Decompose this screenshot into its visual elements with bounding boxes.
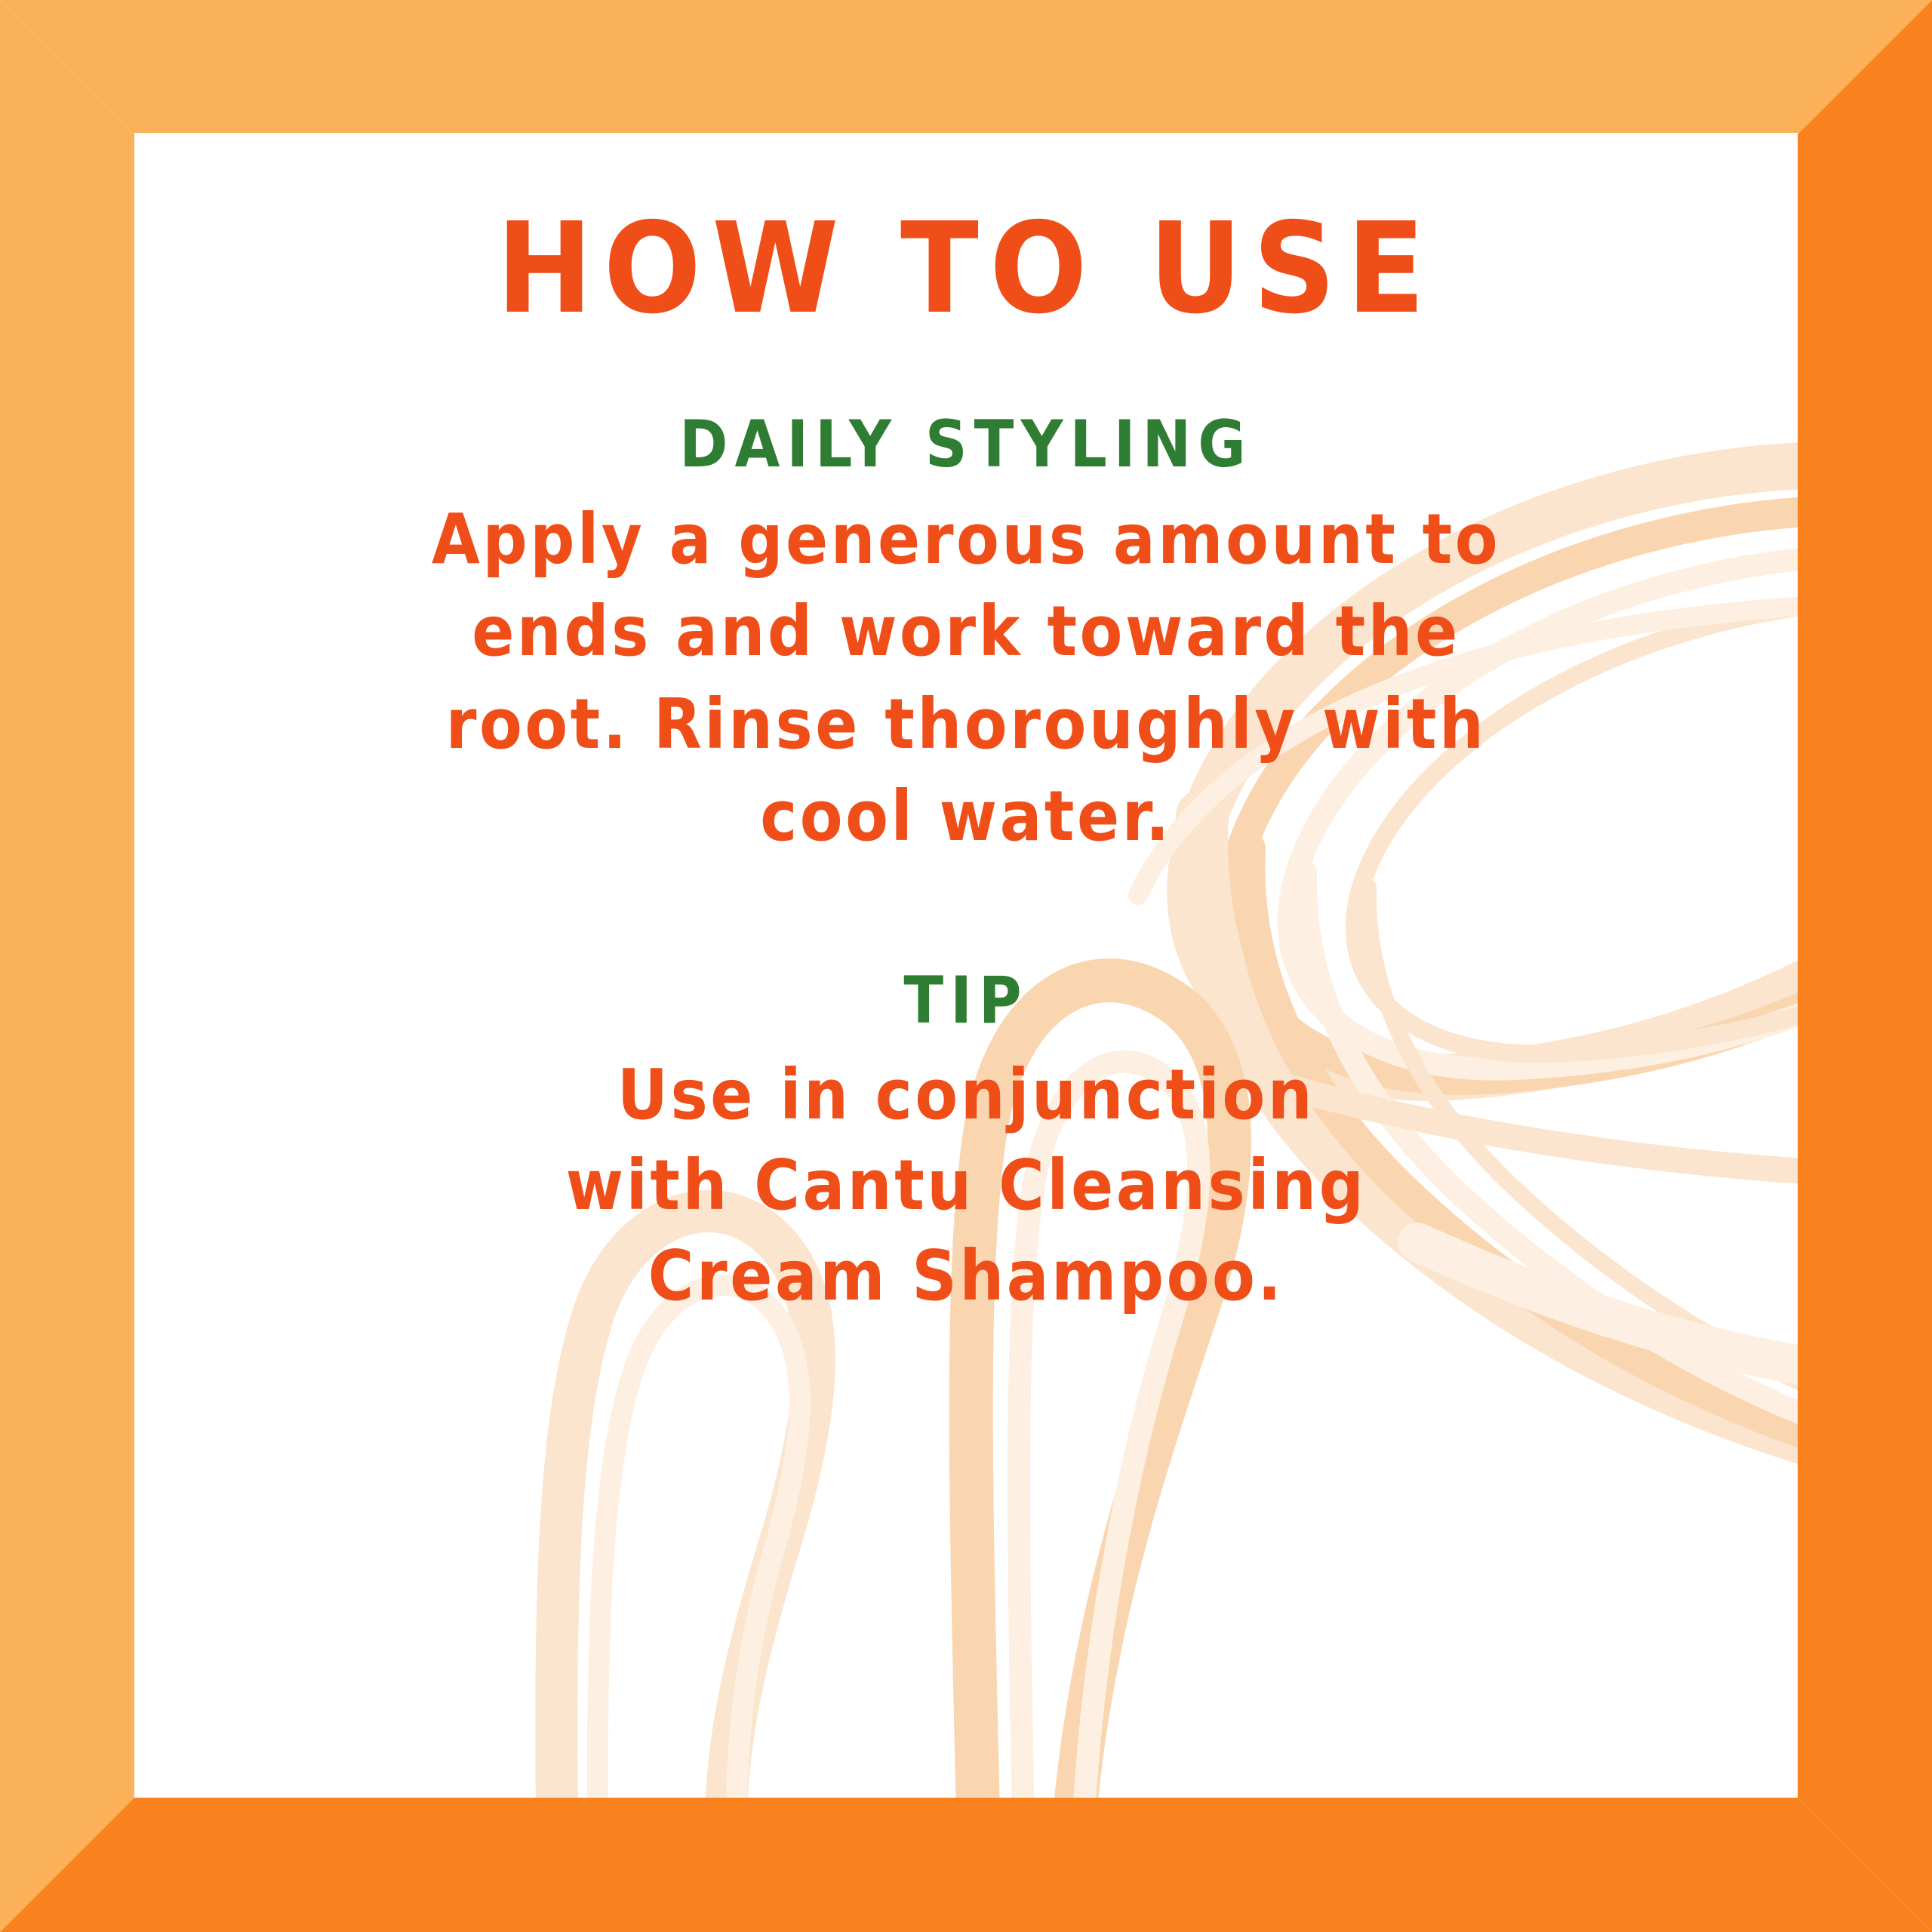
section-heading-daily-styling: DAILY STYLING xyxy=(679,412,1253,477)
frame-left-bevel xyxy=(0,0,134,1932)
section-tip: TIP Use in conjunction with Cantu Cleans… xyxy=(134,968,1798,1321)
section-body-tip: Use in conjunction with Cantu Cleansing … xyxy=(566,1050,1367,1321)
body-line: with Cantu Cleansing xyxy=(566,1140,1367,1231)
frame-right-bevel xyxy=(1798,0,1932,1932)
body-line: Cream Shampoo. xyxy=(566,1231,1367,1321)
body-line: Use in conjunction xyxy=(566,1050,1367,1140)
body-line: root. Rinse thoroughly with xyxy=(432,678,1500,771)
body-line: ends and work toward the xyxy=(432,586,1500,678)
body-line: cool water. xyxy=(432,771,1500,863)
white-content-card: HOW TO USE DAILY STYLING Apply a generou… xyxy=(134,133,1798,1798)
page-title: HOW TO USE xyxy=(497,207,1436,332)
poster-content: HOW TO USE DAILY STYLING Apply a generou… xyxy=(134,133,1798,1798)
poster-canvas: HOW TO USE DAILY STYLING Apply a generou… xyxy=(0,0,1932,1932)
section-body-daily-styling: Apply a generous amount to ends and work… xyxy=(432,494,1500,863)
body-line: Apply a generous amount to xyxy=(432,494,1500,586)
frame-top-bevel xyxy=(0,0,1932,134)
frame-bottom-bevel xyxy=(0,1798,1932,1932)
section-daily-styling: DAILY STYLING Apply a generous amount to… xyxy=(134,412,1798,863)
section-heading-tip: TIP xyxy=(903,968,1028,1033)
